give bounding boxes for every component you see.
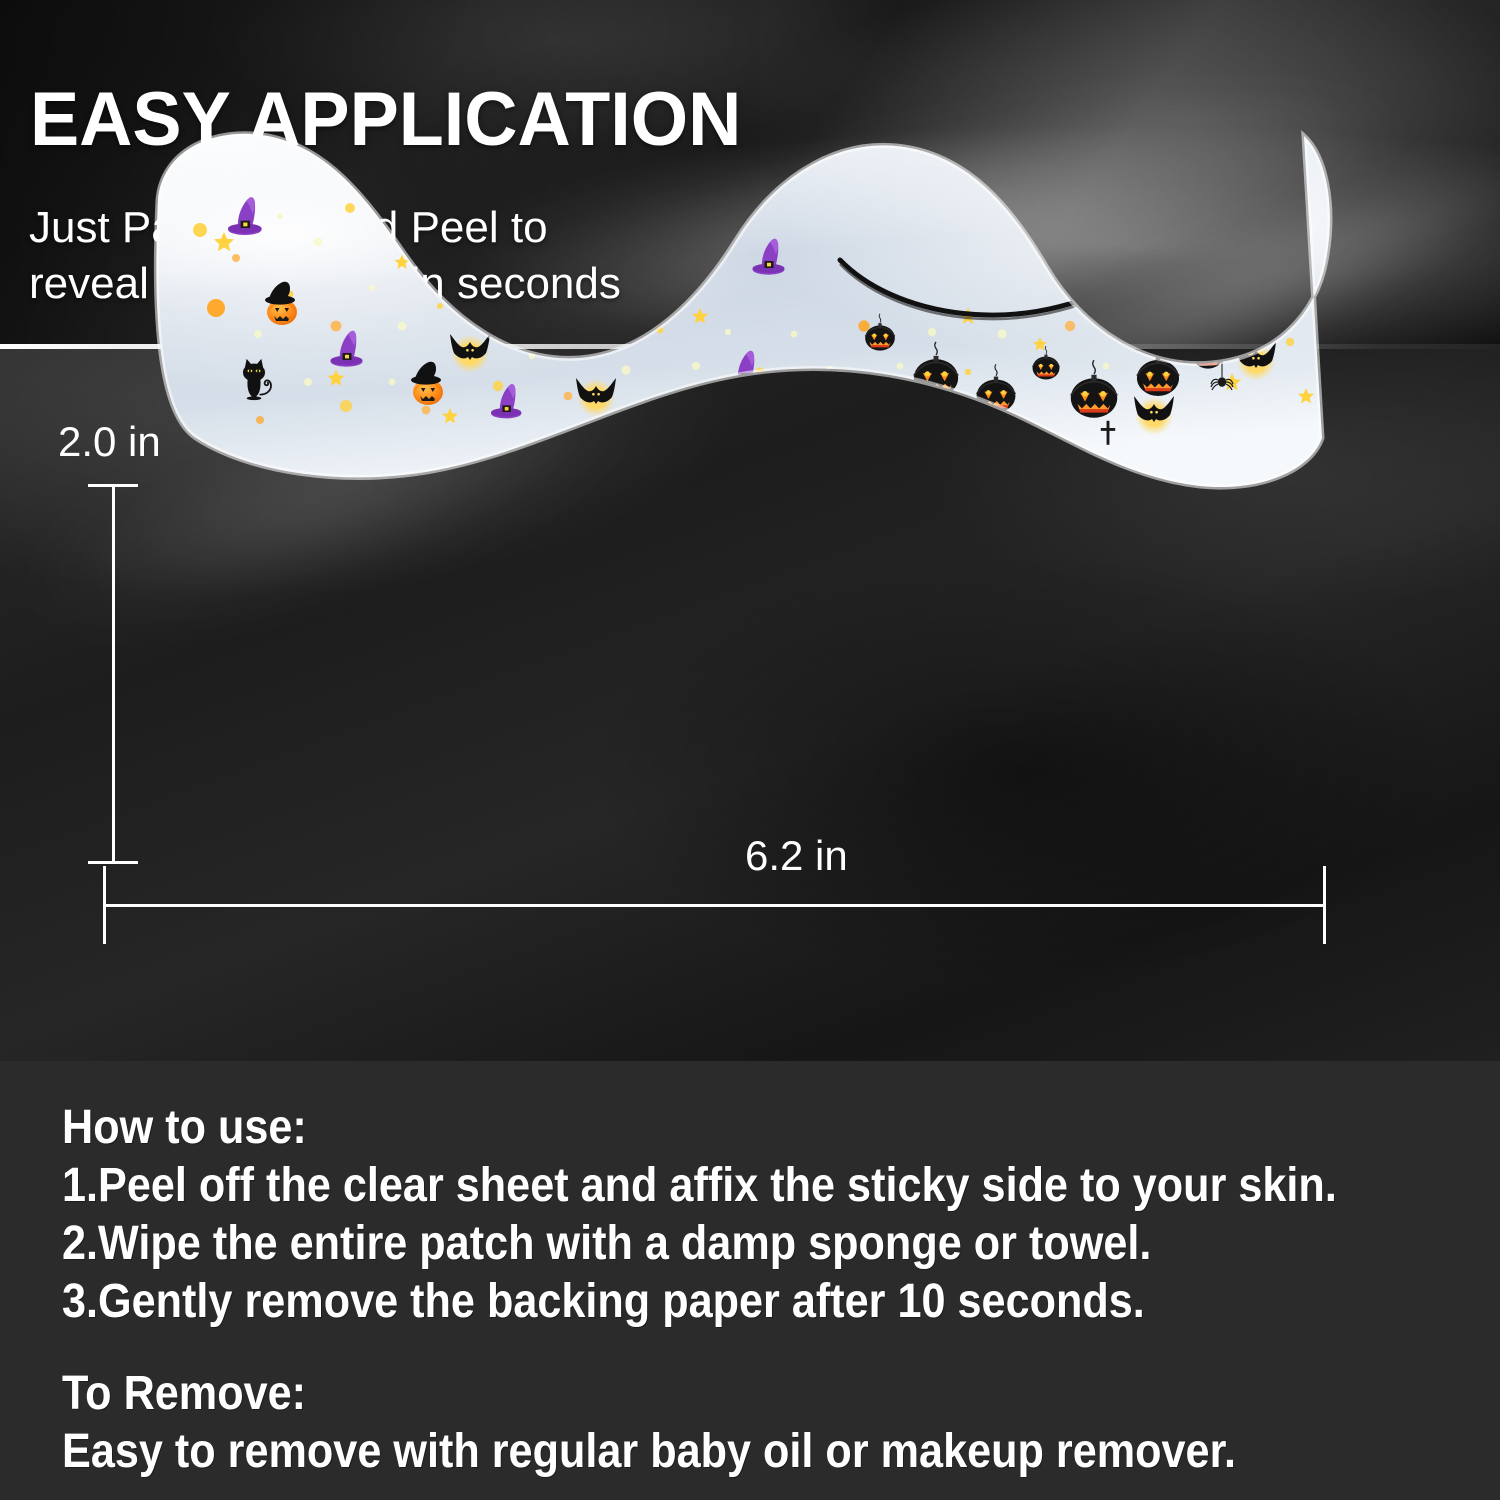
instruction-step-1: 1.Peel off the clear sheet and affix the… bbox=[62, 1158, 1337, 1213]
width-dimension-label: 6.2 in bbox=[745, 832, 848, 880]
width-dimension-cap-right bbox=[1323, 866, 1326, 944]
height-dimension-cap-bottom bbox=[88, 861, 138, 864]
to-remove-heading: To Remove: bbox=[62, 1366, 306, 1421]
how-to-use-heading: How to use: bbox=[62, 1100, 307, 1155]
height-dimension-line bbox=[112, 486, 115, 864]
stage-shadow-overlay bbox=[300, 469, 1500, 1061]
product-patch bbox=[140, 120, 1340, 500]
product-infographic: EASY APPLICATION Just Patch,Pat,and Peel… bbox=[0, 0, 1500, 1500]
patch-illustration bbox=[140, 120, 1340, 500]
instruction-step-3: 3.Gently remove the backing paper after … bbox=[62, 1274, 1145, 1329]
height-dimension-label: 2.0 in bbox=[58, 418, 161, 466]
to-remove-text: Easy to remove with regular baby oil or … bbox=[62, 1424, 1236, 1479]
instruction-step-2: 2.Wipe the entire patch with a damp spon… bbox=[62, 1216, 1151, 1271]
width-dimension-line bbox=[104, 904, 1326, 907]
